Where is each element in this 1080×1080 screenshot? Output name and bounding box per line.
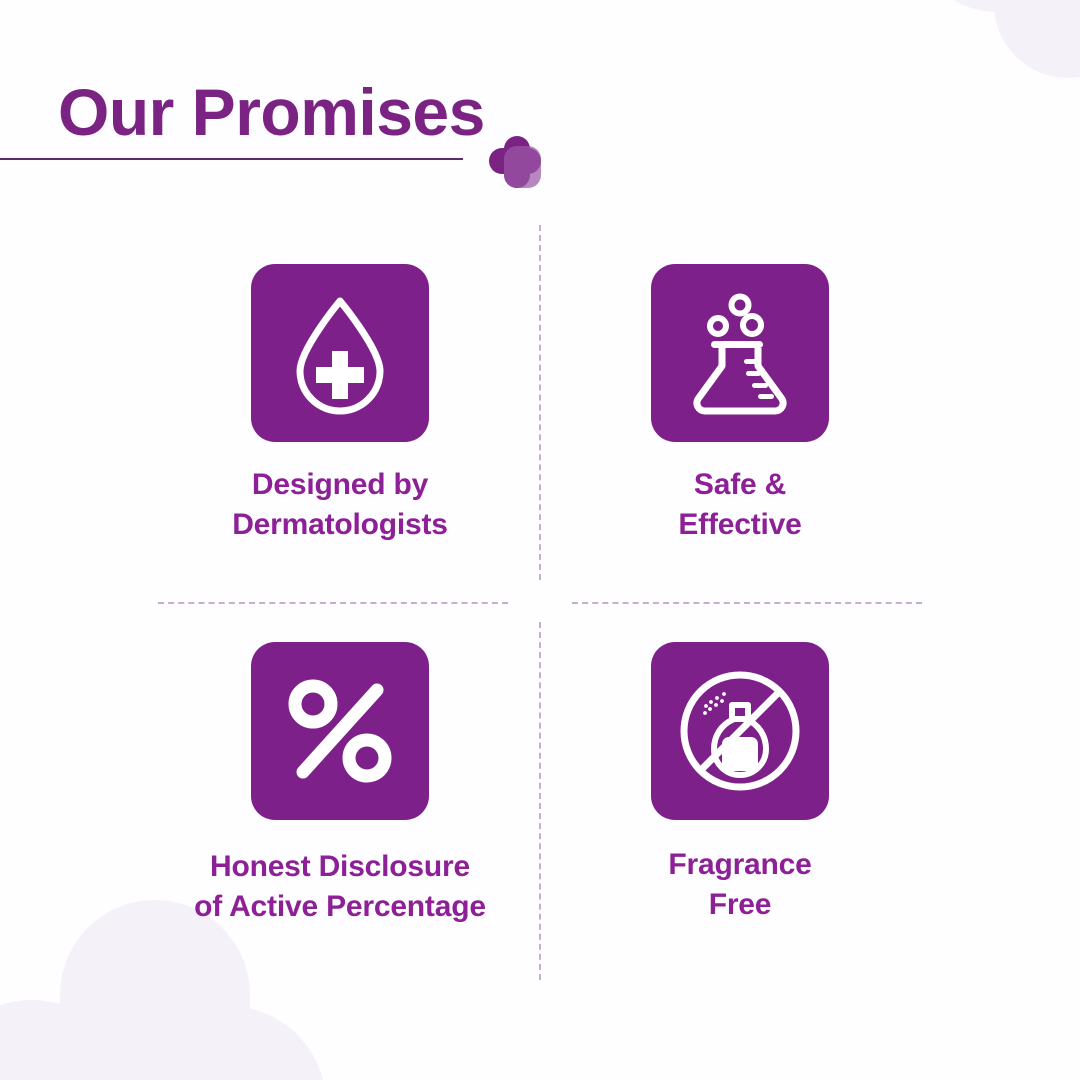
promise-label: Designed by Dermatologists [140,442,540,545]
divider-horizontal-left [158,602,508,604]
promise-label: Honest Disclosure of Active Percentage [140,820,540,927]
decorative-blob-top-right [902,0,1080,152]
title-underline [0,158,463,160]
promise-item-designed-by-dermatologists: Designed by Dermatologists [140,264,540,545]
cross-bar-highlight [504,146,541,188]
promise-item-honest-disclosure: Honest Disclosure of Active Percentage [140,642,540,927]
icon-tile [651,264,829,442]
blob-circle [920,0,1070,12]
icon-tile [251,264,429,442]
promise-item-safe-and-effective: Safe & Effective [540,264,940,545]
droplet-plus-icon [278,291,402,415]
flask-bubbles-icon [678,291,802,415]
icon-tile [251,642,429,820]
blob-circle [130,1006,326,1080]
divider-horizontal-right [572,602,922,604]
promise-item-fragrance-free: Fragrance Free [540,642,940,925]
promise-label: Safe & Effective [540,442,940,545]
percent-icon [285,676,395,786]
promises-grid: Designed by Dermatologists Safe & Effect… [0,222,1080,992]
blob-circle [994,0,1080,78]
icon-tile [651,642,829,820]
plus-cross-icon [489,136,541,188]
promise-label: Fragrance Free [540,820,940,925]
no-fragrance-icon [676,667,804,795]
blob-circle [1042,0,1080,4]
blob-circle [0,1000,130,1080]
promises-poster: Our Promises Designed by Dermatologists [0,0,1080,1080]
